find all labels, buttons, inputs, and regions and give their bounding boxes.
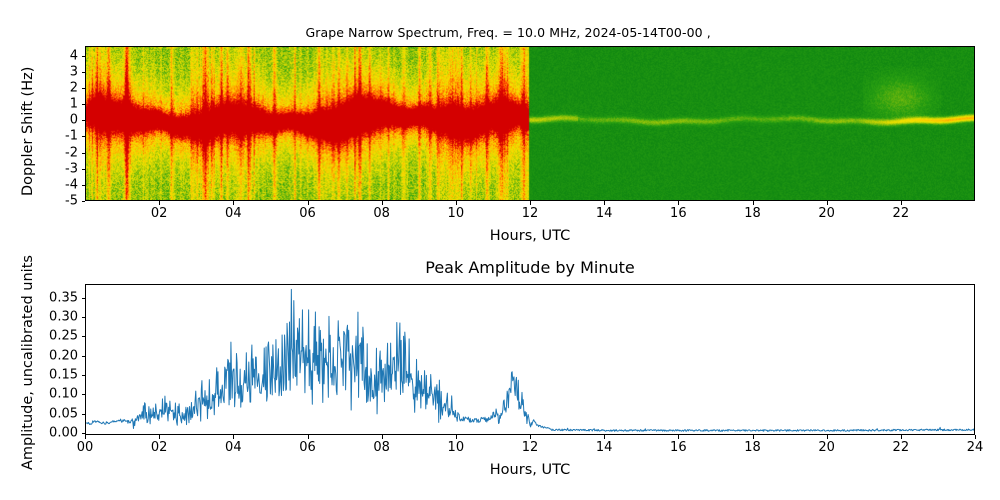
y-tick-label: -2	[65, 146, 78, 159]
figure-title-line-1: Grape Narrow Spectrum, Freq. = 10.0 MHz,…	[305, 25, 710, 40]
y-tick-label: -4	[65, 178, 78, 191]
y-tick-label: -3	[65, 162, 78, 175]
x-tick-mark	[604, 201, 605, 205]
y-tick-mark	[82, 169, 86, 170]
y-tick-mark	[82, 136, 86, 137]
x-tick-mark	[233, 201, 234, 205]
amplitude-x-axis-label: Hours, UTC	[490, 462, 570, 478]
y-tick-label: 0	[70, 114, 78, 127]
x-tick-mark	[382, 435, 383, 439]
y-tick-mark	[82, 185, 86, 186]
y-tick-label: 0.35	[49, 291, 78, 304]
figure-canvas: Grape Narrow Spectrum, Freq. = 10.0 MHz,…	[0, 0, 1000, 500]
x-tick-mark	[382, 201, 383, 205]
y-tick-mark	[82, 56, 86, 57]
x-tick-label: 10	[448, 207, 465, 220]
y-tick-label: 0.30	[49, 310, 78, 323]
spectrogram-y-axis-label: Doppler Shift (Hz)	[20, 67, 36, 196]
amplitude-axes	[85, 284, 975, 435]
x-tick-label: 14	[596, 207, 613, 220]
x-tick-mark	[827, 201, 828, 205]
y-tick-mark	[82, 394, 86, 395]
y-tick-mark	[82, 120, 86, 121]
x-tick-label: 18	[744, 207, 761, 220]
x-tick-label: 08	[373, 207, 390, 220]
y-tick-label: 3	[70, 65, 78, 78]
x-tick-mark	[456, 201, 457, 205]
amplitude-line-plot	[86, 285, 974, 434]
x-tick-mark	[901, 435, 902, 439]
y-tick-mark	[82, 433, 86, 434]
x-tick-mark	[753, 435, 754, 439]
y-tick-label: 0.00	[49, 427, 78, 440]
y-tick-mark	[82, 104, 86, 105]
y-tick-mark	[82, 298, 86, 299]
amplitude-series-line	[86, 289, 974, 431]
x-tick-label: 10	[448, 441, 465, 454]
amplitude-y-axis-label: Amplitude, uncalibrated units	[20, 255, 36, 470]
x-tick-label: 16	[670, 441, 687, 454]
x-tick-mark	[975, 435, 976, 439]
x-tick-label: 22	[893, 441, 910, 454]
x-tick-label: 18	[744, 441, 761, 454]
y-tick-label: 2	[70, 81, 78, 94]
y-tick-label: 0.15	[49, 368, 78, 381]
y-tick-label: 0.05	[49, 407, 78, 420]
y-tick-label: 0.25	[49, 330, 78, 343]
x-tick-mark	[456, 435, 457, 439]
y-tick-mark	[82, 201, 86, 202]
y-tick-mark	[82, 375, 86, 376]
x-tick-label: 08	[373, 441, 390, 454]
x-tick-mark	[530, 201, 531, 205]
x-tick-mark	[530, 435, 531, 439]
x-tick-label: 16	[670, 207, 687, 220]
y-tick-label: 0.10	[49, 388, 78, 401]
spectrogram-x-axis-label: Hours, UTC	[490, 228, 570, 244]
x-tick-label: 20	[818, 207, 835, 220]
x-tick-mark	[159, 201, 160, 205]
spectrogram-axes	[85, 46, 975, 201]
y-tick-label: 0.20	[49, 349, 78, 362]
x-tick-label: 02	[151, 207, 168, 220]
y-tick-mark	[82, 72, 86, 73]
y-tick-mark	[82, 414, 86, 415]
x-tick-mark	[159, 435, 160, 439]
x-tick-label: 06	[299, 441, 316, 454]
x-tick-mark	[308, 201, 309, 205]
y-tick-label: -1	[65, 130, 78, 143]
y-tick-label: -5	[65, 195, 78, 208]
y-tick-label: 1	[70, 98, 78, 111]
x-tick-mark	[827, 435, 828, 439]
y-tick-label: 4	[70, 49, 78, 62]
x-tick-mark	[678, 435, 679, 439]
x-tick-label: 22	[893, 207, 910, 220]
x-tick-mark	[678, 201, 679, 205]
x-tick-mark	[85, 435, 86, 439]
x-tick-mark	[753, 201, 754, 205]
x-tick-mark	[901, 201, 902, 205]
x-tick-label: 24	[967, 441, 984, 454]
x-tick-label: 04	[225, 441, 242, 454]
amplitude-subplot-title: Peak Amplitude by Minute	[85, 258, 975, 277]
x-tick-label: 14	[596, 441, 613, 454]
spectrogram-image	[86, 47, 974, 200]
x-tick-label: 12	[522, 441, 539, 454]
x-tick-label: 02	[151, 441, 168, 454]
x-tick-mark	[308, 435, 309, 439]
x-tick-mark	[233, 435, 234, 439]
y-tick-mark	[82, 336, 86, 337]
x-tick-mark	[604, 435, 605, 439]
y-tick-mark	[82, 356, 86, 357]
x-tick-label: 00	[77, 441, 94, 454]
x-tick-label: 12	[522, 207, 539, 220]
x-tick-label: 04	[225, 207, 242, 220]
y-tick-mark	[82, 317, 86, 318]
x-tick-label: 20	[818, 441, 835, 454]
x-tick-label: 06	[299, 207, 316, 220]
y-tick-mark	[82, 88, 86, 89]
y-tick-mark	[82, 153, 86, 154]
